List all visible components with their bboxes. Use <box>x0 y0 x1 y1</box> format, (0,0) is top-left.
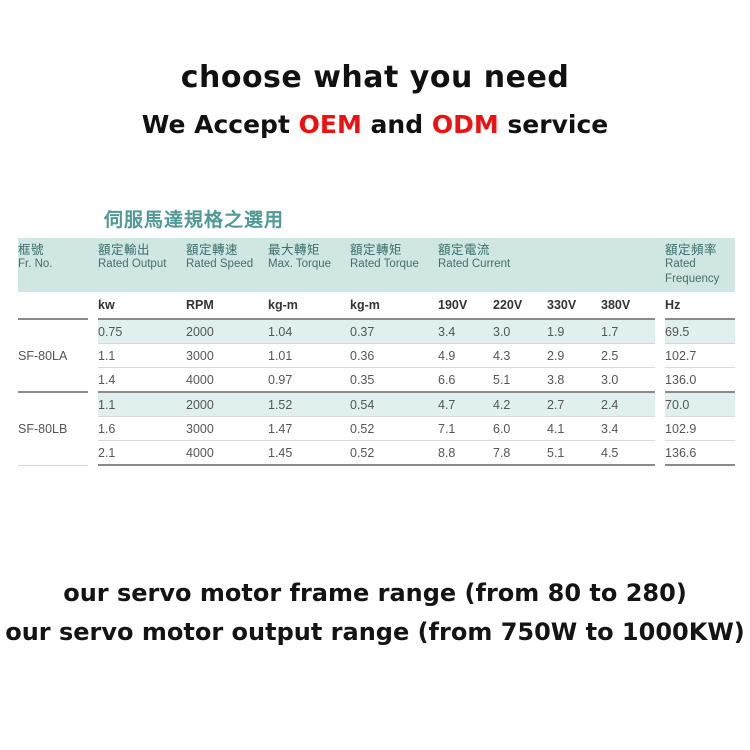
row-gap-2 <box>655 319 665 344</box>
unit-cell-rated-output: kw <box>98 292 186 319</box>
footer-line-output-range: our servo motor output range (from 750W … <box>0 617 750 648</box>
cell-current-220v: 4.2 <box>493 392 547 417</box>
cell-rated-frequency: 102.7 <box>665 344 735 368</box>
header-cn-rated-speed: 額定轉速 <box>186 242 268 257</box>
unit-cell-current-330v: 330V <box>547 292 601 319</box>
header-cell-rated-torque: 額定轉矩 Rated Torque <box>350 238 438 292</box>
cell-rated-frequency: 136.0 <box>665 368 735 393</box>
cell-rated-torque: 0.52 <box>350 417 438 441</box>
cell-max-torque: 0.97 <box>268 368 350 393</box>
cell-current-330v: 3.8 <box>547 368 601 393</box>
header-cn-max-torque: 最大轉矩 <box>268 242 350 257</box>
unit-cell-current-190v: 190V <box>438 292 493 319</box>
header-cell-rated-speed: 額定轉速 Rated Speed <box>186 238 268 292</box>
cell-rated-output: 2.1 <box>98 441 186 466</box>
cell-rated-speed: 2000 <box>186 392 268 417</box>
cell-rated-speed: 3000 <box>186 417 268 441</box>
table-row: 1.6 3000 1.47 0.52 7.1 6.0 4.1 3.4 102.9 <box>18 417 735 441</box>
cell-current-330v: 5.1 <box>547 441 601 466</box>
header-cell-fr-no: 框號 Fr. No. <box>18 238 88 292</box>
row-gap-1 <box>88 417 98 441</box>
table-row: 2.1 4000 1.45 0.52 8.8 7.8 5.1 4.5 136.6 <box>18 441 735 466</box>
header-cn-rated-frequency: 額定頻率 <box>665 242 735 257</box>
headline-block: choose what you need We Accept OEM and O… <box>0 60 750 140</box>
cell-rated-torque: 0.54 <box>350 392 438 417</box>
header-gap-2 <box>655 238 665 292</box>
unit-cell-rated-frequency: Hz <box>665 292 735 319</box>
row-gap-1 <box>88 344 98 368</box>
cell-current-190v: 4.9 <box>438 344 493 368</box>
cell-rated-torque: 0.52 <box>350 441 438 466</box>
headline-primary: choose what you need <box>0 60 750 96</box>
header-en-rated-output: Rated Output <box>98 257 186 272</box>
unit-cell-fr-no <box>18 292 88 319</box>
row-gap-2 <box>655 417 665 441</box>
cell-max-torque: 1.01 <box>268 344 350 368</box>
header-en-rated-frequency: Rated Frequency <box>665 257 735 287</box>
cell-current-190v: 7.1 <box>438 417 493 441</box>
cell-rated-frequency: 102.9 <box>665 417 735 441</box>
cell-current-380v: 2.4 <box>601 392 655 417</box>
header-cell-rated-output: 額定輸出 Rated Output <box>98 238 186 292</box>
row-gap-2 <box>655 441 665 466</box>
cell-current-380v: 2.5 <box>601 344 655 368</box>
header-en-max-torque: Max. Torque <box>268 257 350 272</box>
table-row: SF-80LB 1.1 2000 1.52 0.54 4.7 4.2 2.7 2… <box>18 392 735 417</box>
fr-no-cell-group-1: SF-80LA <box>18 319 88 392</box>
unit-cell-max-torque: kg-m <box>268 292 350 319</box>
header-cn-rated-torque: 額定轉矩 <box>350 242 438 257</box>
cell-current-220v: 5.1 <box>493 368 547 393</box>
cell-current-330v: 4.1 <box>547 417 601 441</box>
cell-current-190v: 6.6 <box>438 368 493 393</box>
header-cell-rated-frequency: 額定頻率 Rated Frequency <box>665 238 735 292</box>
cell-current-380v: 3.0 <box>601 368 655 393</box>
cell-current-220v: 4.3 <box>493 344 547 368</box>
headline-secondary: We Accept OEM and ODM service <box>0 110 750 140</box>
row-gap-2 <box>655 344 665 368</box>
headline-seg-we-accept: We Accept <box>142 110 299 139</box>
unit-cell-current-380v: 380V <box>601 292 655 319</box>
unit-gap-1 <box>88 292 98 319</box>
cell-rated-frequency: 69.5 <box>665 319 735 344</box>
header-cn-fr-no: 框號 <box>18 242 88 257</box>
cell-rated-speed: 4000 <box>186 441 268 466</box>
cell-rated-output: 1.1 <box>98 344 186 368</box>
row-gap-1 <box>88 319 98 344</box>
row-gap-2 <box>655 368 665 393</box>
unit-cell-current-220v: 220V <box>493 292 547 319</box>
cell-current-380v: 4.5 <box>601 441 655 466</box>
unit-gap-2 <box>655 292 665 319</box>
servo-motor-spec-table: 框號 Fr. No. 額定輸出 Rated Output 額定轉速 Rated … <box>18 238 735 466</box>
unit-cell-rated-speed: RPM <box>186 292 268 319</box>
cell-current-330v: 2.9 <box>547 344 601 368</box>
header-cn-rated-output: 額定輸出 <box>98 242 186 257</box>
cell-rated-torque: 0.36 <box>350 344 438 368</box>
cell-current-220v: 3.0 <box>493 319 547 344</box>
cell-rated-output: 1.1 <box>98 392 186 417</box>
cell-rated-output: 1.6 <box>98 417 186 441</box>
cell-rated-torque: 0.37 <box>350 319 438 344</box>
headline-seg-oem: OEM <box>299 110 362 139</box>
cell-current-220v: 7.8 <box>493 441 547 466</box>
headline-seg-odm: ODM <box>432 110 499 139</box>
cell-rated-frequency: 70.0 <box>665 392 735 417</box>
cell-rated-speed: 2000 <box>186 319 268 344</box>
cell-current-220v: 6.0 <box>493 417 547 441</box>
headline-seg-and: and <box>362 110 432 139</box>
header-gap-1 <box>88 238 98 292</box>
cell-rated-torque: 0.35 <box>350 368 438 393</box>
row-gap-1 <box>88 441 98 466</box>
table-row: 1.4 4000 0.97 0.35 6.6 5.1 3.8 3.0 136.0 <box>18 368 735 393</box>
cell-rated-speed: 4000 <box>186 368 268 393</box>
cell-max-torque: 1.04 <box>268 319 350 344</box>
table-title: 伺服馬達規格之選用 <box>104 205 284 232</box>
header-en-rated-current: Rated Current <box>438 257 655 272</box>
headline-seg-service: service <box>499 110 609 139</box>
cell-rated-frequency: 136.6 <box>665 441 735 466</box>
cell-rated-output: 1.4 <box>98 368 186 393</box>
header-cn-rated-current: 額定電流 <box>438 242 655 257</box>
header-en-rated-torque: Rated Torque <box>350 257 438 272</box>
unit-cell-rated-torque: kg-m <box>350 292 438 319</box>
cell-max-torque: 1.52 <box>268 392 350 417</box>
header-en-rated-speed: Rated Speed <box>186 257 268 272</box>
table-row: SF-80LA 0.75 2000 1.04 0.37 3.4 3.0 1.9 … <box>18 319 735 344</box>
table-unit-row: kw RPM kg-m kg-m 190V 220V 330V 380V Hz <box>18 292 735 319</box>
table-header-band: 框號 Fr. No. 額定輸出 Rated Output 額定轉速 Rated … <box>18 238 735 292</box>
cell-rated-output: 0.75 <box>98 319 186 344</box>
header-en-fr-no: Fr. No. <box>18 257 88 272</box>
cell-current-190v: 8.8 <box>438 441 493 466</box>
table-row: 1.1 3000 1.01 0.36 4.9 4.3 2.9 2.5 102.7 <box>18 344 735 368</box>
header-cell-rated-current: 額定電流 Rated Current <box>438 238 655 292</box>
cell-max-torque: 1.45 <box>268 441 350 466</box>
cell-current-380v: 1.7 <box>601 319 655 344</box>
header-cell-max-torque: 最大轉矩 Max. Torque <box>268 238 350 292</box>
spec-table-container: 框號 Fr. No. 額定輸出 Rated Output 額定轉速 Rated … <box>18 238 735 466</box>
cell-current-330v: 1.9 <box>547 319 601 344</box>
cell-current-380v: 3.4 <box>601 417 655 441</box>
cell-max-torque: 1.47 <box>268 417 350 441</box>
cell-current-190v: 4.7 <box>438 392 493 417</box>
fr-no-cell-group-2: SF-80LB <box>18 392 88 465</box>
footer-block: our servo motor frame range (from 80 to … <box>0 578 750 647</box>
cell-current-190v: 3.4 <box>438 319 493 344</box>
row-gap-1 <box>88 368 98 393</box>
cell-rated-speed: 3000 <box>186 344 268 368</box>
row-gap-2 <box>655 392 665 417</box>
cell-current-330v: 2.7 <box>547 392 601 417</box>
footer-line-frame-range: our servo motor frame range (from 80 to … <box>0 578 750 609</box>
row-gap-1 <box>88 392 98 417</box>
